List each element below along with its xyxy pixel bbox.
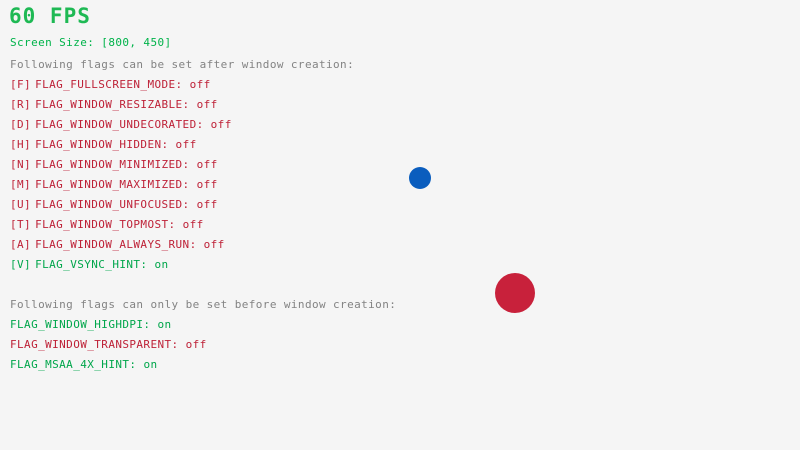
flag-shortcut-key: [T] (10, 218, 31, 231)
raylib-window-canvas: 60 FPS Screen Size: [800, 450] Following… (0, 0, 800, 450)
flag-value: off (186, 338, 207, 351)
flag-row-flag-window-maximized[interactable]: [M]FLAG_WINDOW_MAXIMIZED: off (10, 179, 218, 191)
flag-shortcut-key: [N] (10, 158, 31, 171)
flag-shortcut-key: [R] (10, 98, 31, 111)
flag-value: off (190, 78, 211, 91)
flag-shortcut-key: [H] (10, 138, 31, 151)
flag-name: FLAG_WINDOW_HIGHDPI: (10, 318, 150, 331)
flag-name: FLAG_FULLSCREEN_MODE: (35, 78, 182, 91)
flag-name: FLAG_MSAA_4X_HINT: (10, 358, 136, 371)
flag-value: on (143, 358, 157, 371)
flag-shortcut-key: [M] (10, 178, 31, 191)
flag-row-flag-window-hidden[interactable]: [H]FLAG_WINDOW_HIDDEN: off (10, 139, 197, 151)
flag-row-flag-vsync-hint[interactable]: [V]FLAG_VSYNC_HINT: on (10, 259, 169, 271)
flag-row-flag-window-topmost[interactable]: [T]FLAG_WINDOW_TOPMOST: off (10, 219, 204, 231)
flag-row-flag-window-transparent[interactable]: FLAG_WINDOW_TRANSPARENT: off (10, 339, 207, 351)
flag-value: on (157, 318, 171, 331)
flag-row-flag-window-minimized[interactable]: [N]FLAG_WINDOW_MINIMIZED: off (10, 159, 218, 171)
flag-name: FLAG_WINDOW_TRANSPARENT: (10, 338, 179, 351)
flag-row-flag-window-highdpi[interactable]: FLAG_WINDOW_HIGHDPI: on (10, 319, 172, 331)
flag-name: FLAG_WINDOW_MAXIMIZED: (35, 178, 190, 191)
flag-name: FLAG_WINDOW_MINIMIZED: (35, 158, 190, 171)
flag-shortcut-key: [A] (10, 238, 31, 251)
bouncing-ball-red (495, 273, 535, 313)
flag-shortcut-key: [F] (10, 78, 31, 91)
flag-value: off (211, 118, 232, 131)
flag-value: off (197, 158, 218, 171)
flag-name: FLAG_WINDOW_HIDDEN: (35, 138, 168, 151)
flag-value: on (154, 258, 168, 271)
flag-value: off (197, 98, 218, 111)
flag-row-flag-window-undecorated[interactable]: [D]FLAG_WINDOW_UNDECORATED: off (10, 119, 232, 131)
flag-value: off (204, 238, 225, 251)
flag-value: off (176, 138, 197, 151)
flag-name: FLAG_WINDOW_ALWAYS_RUN: (35, 238, 197, 251)
heading-flags-after-creation: Following flags can be set after window … (10, 59, 354, 71)
flag-shortcut-key: [D] (10, 118, 31, 131)
heading-flags-before-creation: Following flags can only be set before w… (10, 299, 396, 311)
screen-size-readout: Screen Size: [800, 450] (10, 37, 172, 49)
flag-row-flag-msaa-4x-hint[interactable]: FLAG_MSAA_4X_HINT: on (10, 359, 157, 371)
fps-counter: 60 FPS (9, 5, 91, 27)
flag-name: FLAG_WINDOW_UNFOCUSED: (35, 198, 190, 211)
flag-value: off (183, 218, 204, 231)
flag-shortcut-key: [U] (10, 198, 31, 211)
flag-row-flag-fullscreen-mode[interactable]: [F]FLAG_FULLSCREEN_MODE: off (10, 79, 211, 91)
flag-row-flag-window-resizable[interactable]: [R]FLAG_WINDOW_RESIZABLE: off (10, 99, 218, 111)
flag-shortcut-key: [V] (10, 258, 31, 271)
flag-name: FLAG_WINDOW_TOPMOST: (35, 218, 175, 231)
bouncing-ball-blue (409, 167, 431, 189)
flag-value: off (197, 178, 218, 191)
flag-name: FLAG_WINDOW_RESIZABLE: (35, 98, 190, 111)
flag-name: FLAG_VSYNC_HINT: (35, 258, 147, 271)
flag-row-flag-window-always-run[interactable]: [A]FLAG_WINDOW_ALWAYS_RUN: off (10, 239, 225, 251)
flag-row-flag-window-unfocused[interactable]: [U]FLAG_WINDOW_UNFOCUSED: off (10, 199, 218, 211)
flag-value: off (197, 198, 218, 211)
flag-name: FLAG_WINDOW_UNDECORATED: (35, 118, 204, 131)
